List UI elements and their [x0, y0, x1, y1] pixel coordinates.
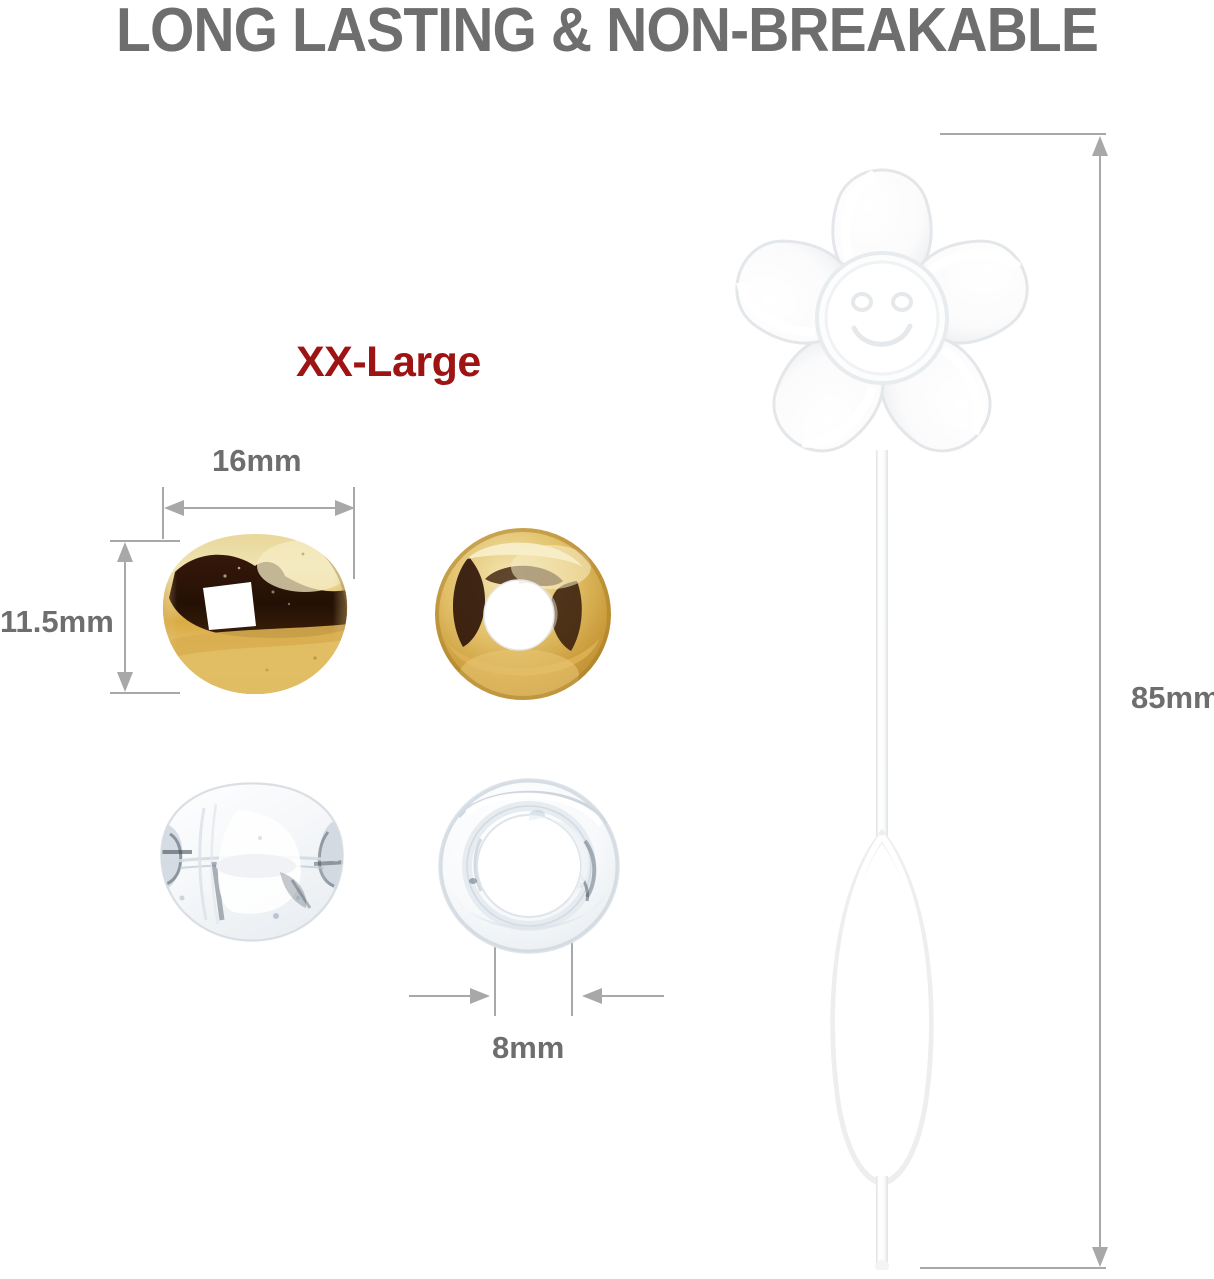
- flower-threader-tool: [690, 120, 1090, 1270]
- dimension-line-hole-right: [602, 995, 664, 997]
- dimension-label-height: 11.5mm: [0, 605, 100, 639]
- dimension-label-length: 85mm: [1131, 681, 1214, 715]
- dimension-arrow-right-icon: [335, 500, 355, 516]
- clear-bead-side-view: [152, 780, 352, 945]
- dimension-line-height: [124, 552, 126, 682]
- dimension-line-width: [176, 507, 343, 509]
- dimension-line-length: [1099, 146, 1101, 1258]
- dimension-line-hole-left: [409, 995, 471, 997]
- dimension-arrow-up-icon: [117, 542, 133, 562]
- size-label: XX-Large: [296, 338, 481, 386]
- tool-loop: [835, 836, 930, 1182]
- dimension-arrow-down-icon: [117, 672, 133, 692]
- dimension-arrow-down-icon: [1092, 1247, 1108, 1267]
- flower-head: [724, 170, 1040, 470]
- dimension-arrow-left-icon: [582, 988, 602, 1004]
- dimension-arrow-left-icon: [164, 500, 184, 516]
- dimension-label-hole: 8mm: [492, 1031, 564, 1065]
- dimension-label-width: 16mm: [212, 444, 302, 478]
- gold-bead-side-view: [155, 532, 355, 697]
- product-infographic: LONG LASTING & NON-BREAKABLE XX-Large 16…: [0, 0, 1214, 1279]
- gold-bead-top-view: [433, 527, 613, 702]
- dimension-arrow-right-icon: [470, 988, 490, 1004]
- page-title: LONG LASTING & NON-BREAKABLE: [49, 0, 1166, 64]
- clear-bead-top-view: [437, 777, 622, 957]
- dimension-arrow-up-icon: [1092, 136, 1108, 156]
